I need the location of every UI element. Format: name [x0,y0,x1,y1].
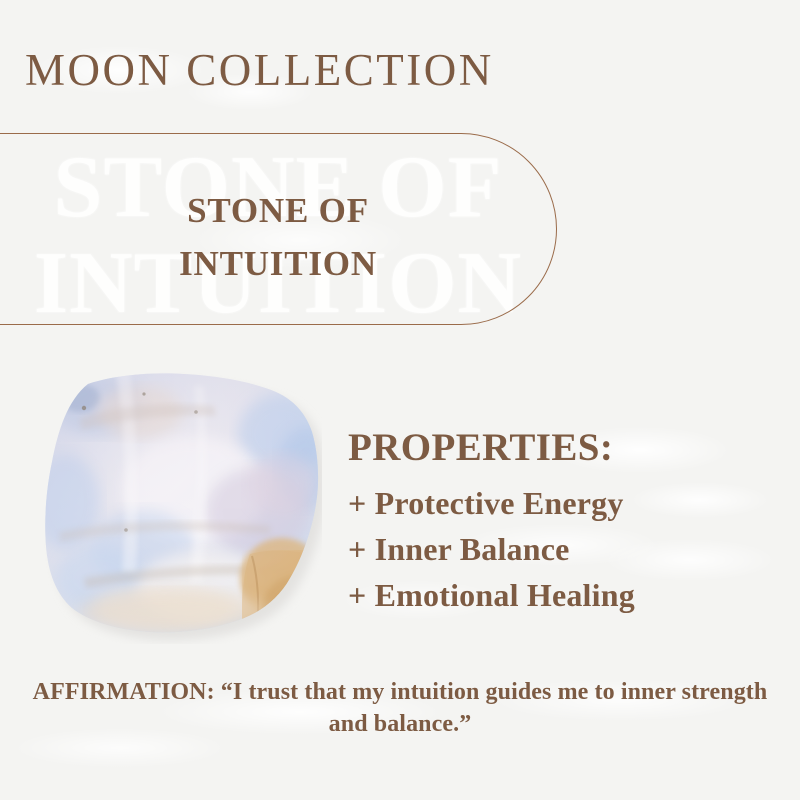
affirmation-text: AFFIRMATION: “I trust that my intuition … [30,676,770,740]
page-title: MOON COLLECTION [25,44,494,96]
properties-heading: PROPERTIES: [348,424,768,472]
moonstone-image [44,372,322,644]
property-item-3: + Emotional Healing [348,572,768,618]
crystal-info-card: MOON COLLECTION STONE OF INTUITION STONE… [0,0,800,800]
badge-title: STONE OF INTUITION [18,184,538,290]
properties-section: PROPERTIES: + Protective Energy + Inner … [348,424,768,618]
property-item-2: + Inner Balance [348,526,768,572]
property-item-1: + Protective Energy [348,480,768,526]
